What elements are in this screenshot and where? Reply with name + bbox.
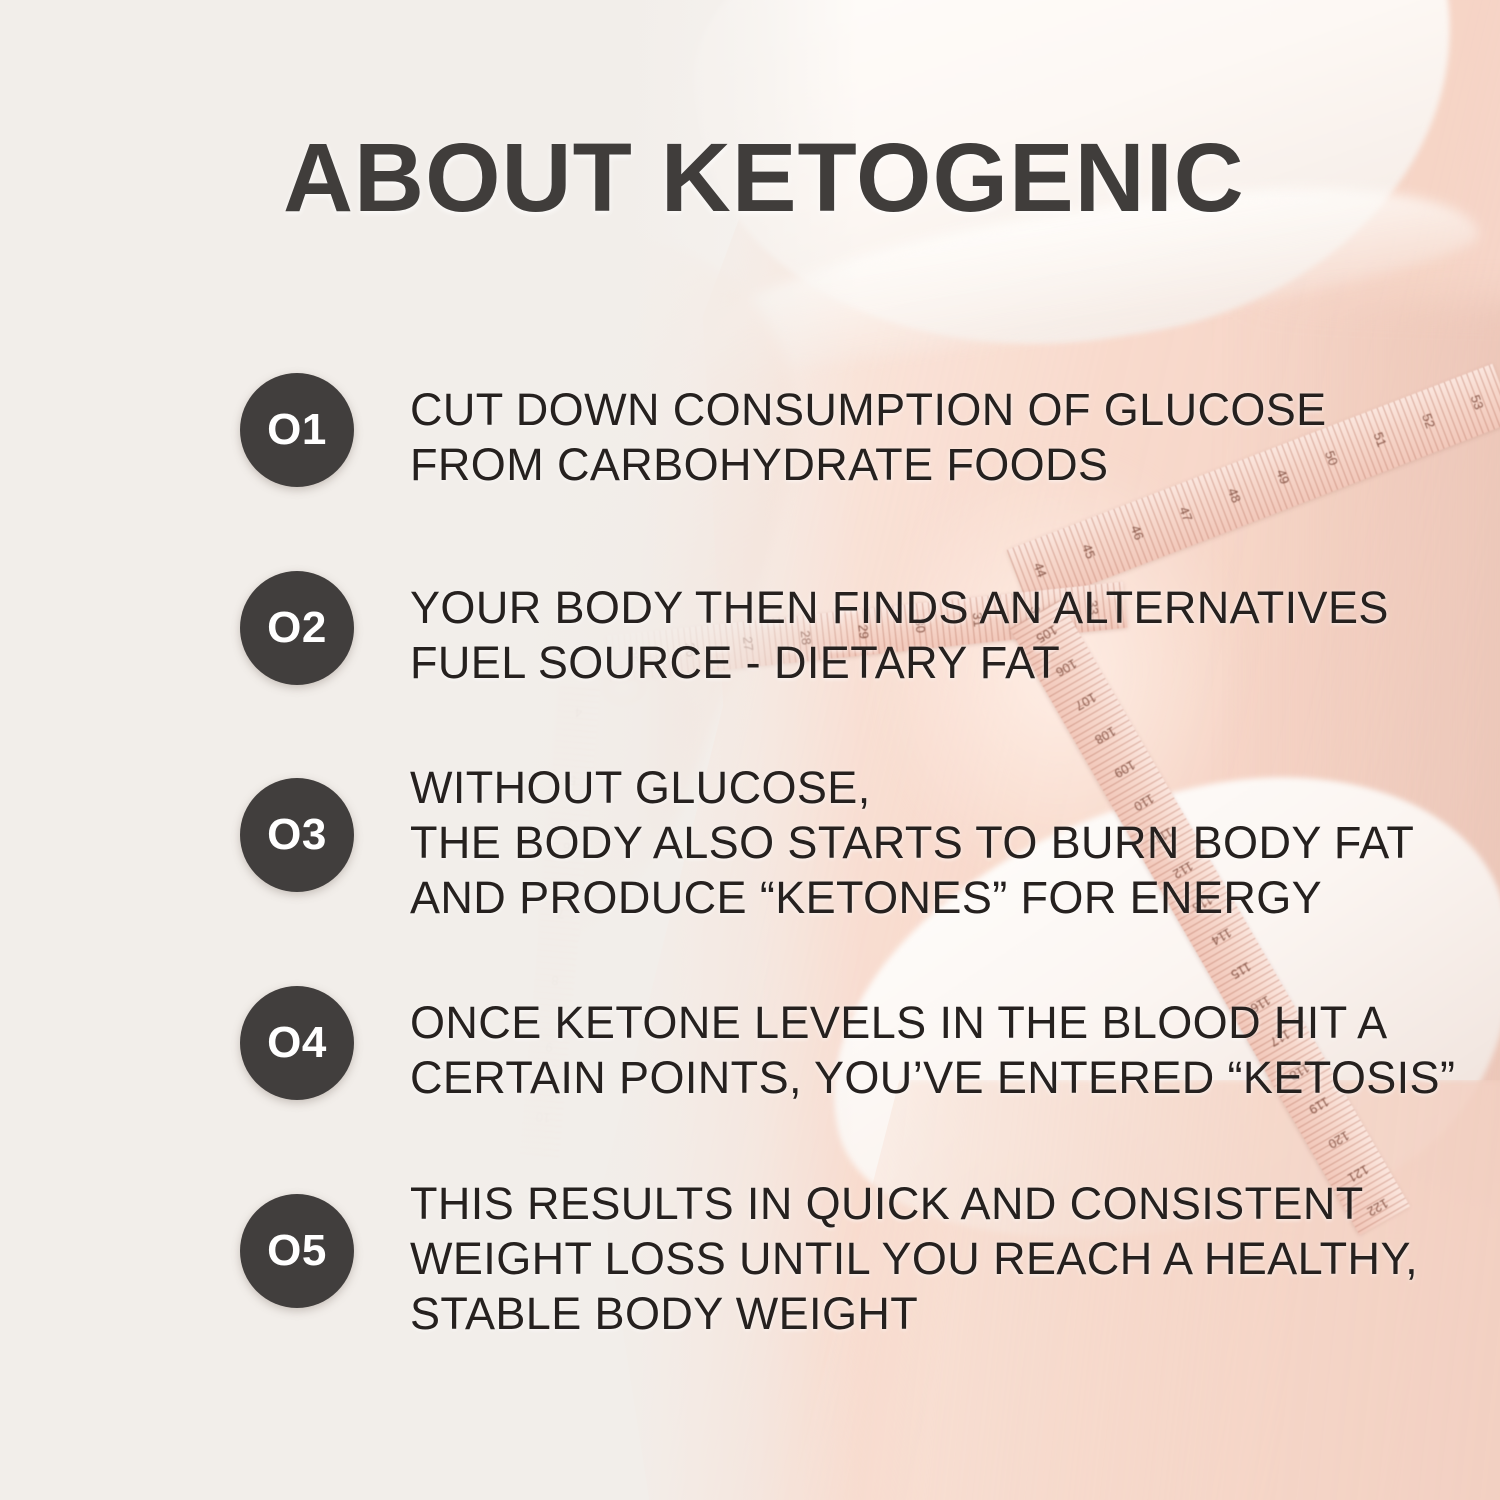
step-badge-2: O2 [240,571,354,685]
step-text-3: WITHOUT GLUCOSE, THE BODY ALSO STARTS TO… [410,760,1414,925]
step-text-line: WITHOUT GLUCOSE, [410,760,1414,815]
step-text-line: WEIGHT LOSS UNTIL YOU REACH A HEALTHY, [410,1231,1418,1286]
step-text-line: THE BODY ALSO STARTS TO BURN BODY FAT [410,815,1414,870]
steps-list: O1 CUT DOWN CONSUMPTION OF GLUCOSE FROM … [0,0,1500,1500]
step-badge-label: O2 [267,606,327,650]
step-text-line: STABLE BODY WEIGHT [410,1286,1418,1341]
step-badge-4: O4 [240,986,354,1100]
step-text-4: ONCE KETONE LEVELS IN THE BLOOD HIT A CE… [410,995,1455,1105]
step-badge-label: O1 [267,408,327,452]
step-badge-1: O1 [240,373,354,487]
step-badge-3: O3 [240,778,354,892]
step-badge-label: O4 [267,1021,327,1065]
step-text-line: FROM CARBOHYDRATE FOODS [410,437,1327,492]
step-text-line: THIS RESULTS IN QUICK AND CONSISTENT [410,1176,1418,1231]
step-badge-label: O3 [267,813,327,857]
step-badge-label: O5 [267,1229,327,1273]
step-text-line: ONCE KETONE LEVELS IN THE BLOOD HIT A [410,995,1455,1050]
step-text-5: THIS RESULTS IN QUICK AND CONSISTENT WEI… [410,1176,1418,1341]
step-text-line: CERTAIN POINTS, YOU’VE ENTERED “KETOSIS” [410,1050,1455,1105]
step-text-2: YOUR BODY THEN FINDS AN ALTERNATIVES FUE… [410,580,1389,690]
step-text-line: AND PRODUCE “KETONES” FOR ENERGY [410,870,1414,925]
poster-content: ABOUT KETOGENIC O1 CUT DOWN CONSUMPTION … [0,0,1500,1500]
ketogenic-infographic-poster: 44454647484950515253 252627282930313233 … [0,0,1500,1500]
step-badge-5: O5 [240,1194,354,1308]
step-text-line: YOUR BODY THEN FINDS AN ALTERNATIVES [410,580,1389,635]
step-text-1: CUT DOWN CONSUMPTION OF GLUCOSE FROM CAR… [410,382,1327,492]
step-text-line: CUT DOWN CONSUMPTION OF GLUCOSE [410,382,1327,437]
step-text-line: FUEL SOURCE - DIETARY FAT [410,635,1389,690]
